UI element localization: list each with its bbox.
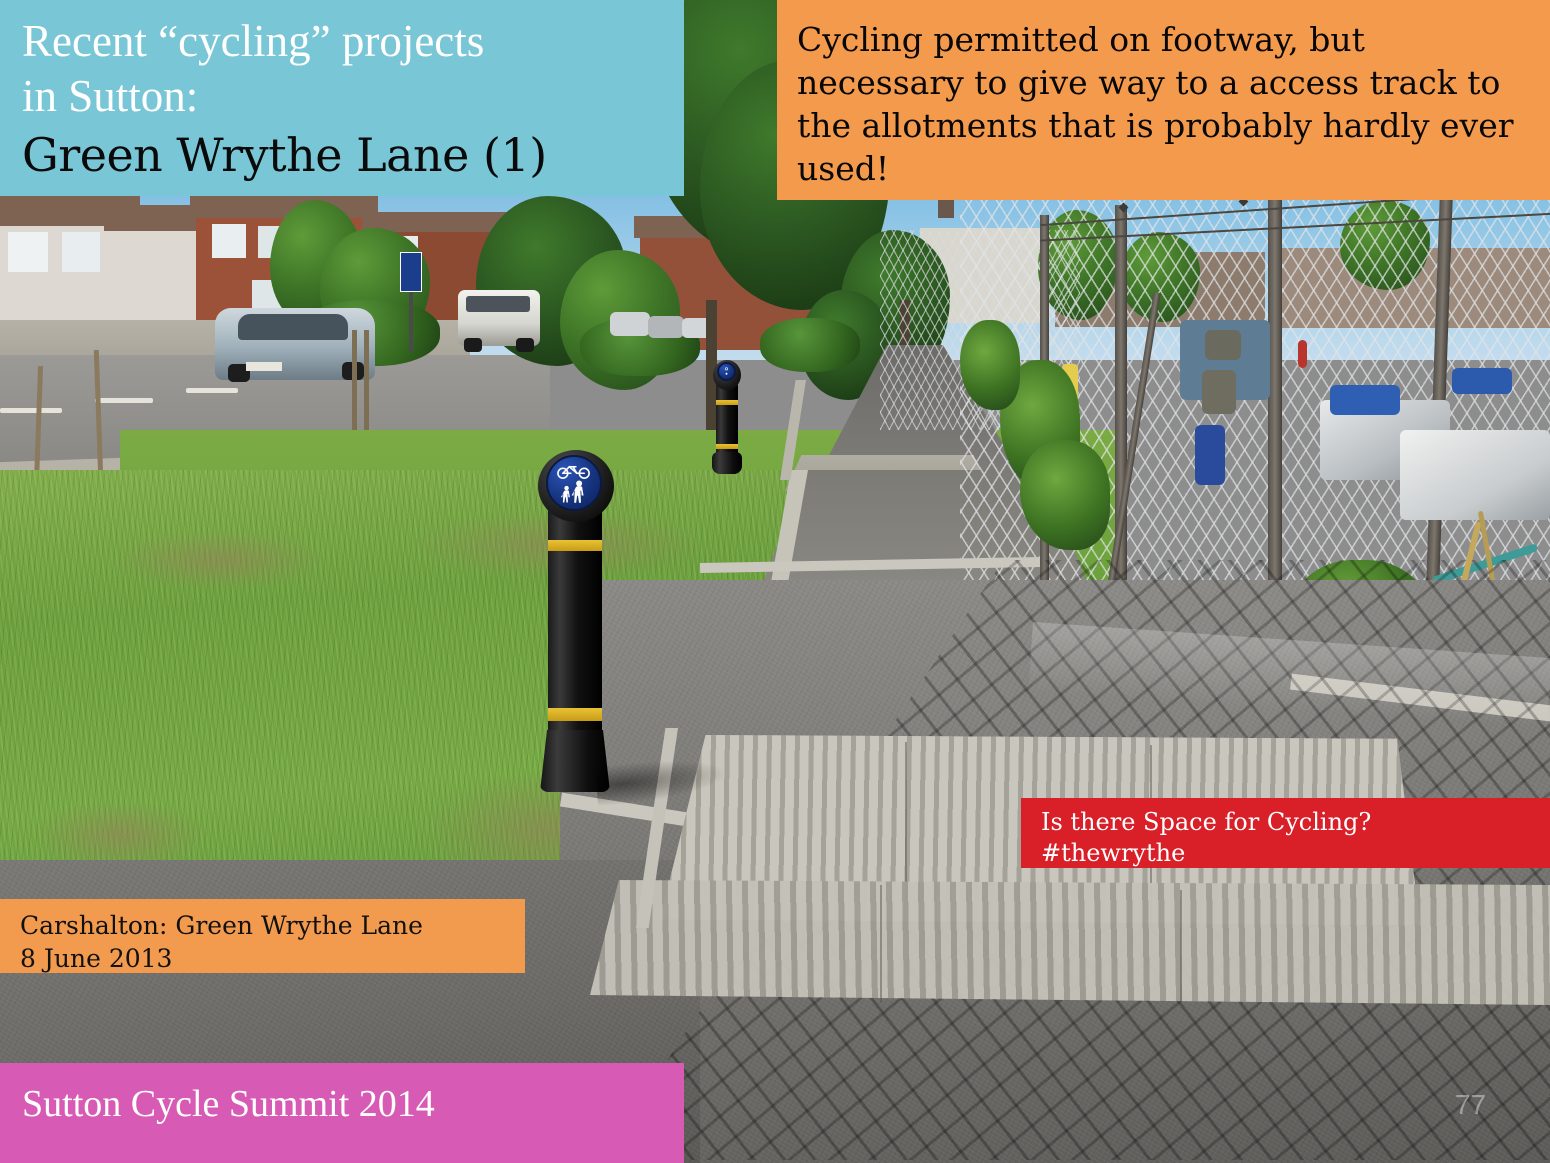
allotment-bag (1400, 430, 1550, 520)
dirt-patch (110, 530, 330, 590)
photo-caption-date: 8 June 2013 (20, 942, 525, 975)
photo-caption-box: Carshalton: Green Wrythe Lane 8 June 201… (0, 899, 525, 973)
bollard-far-yellow-band (716, 400, 738, 405)
4x4-wheel (464, 338, 482, 352)
footer-bar: Sutton Cycle Summit 2014 (0, 1063, 684, 1163)
page-number: 77 (1455, 1089, 1486, 1121)
allotment-marker-red (1298, 340, 1307, 368)
bollard-far-yellow-band (716, 444, 738, 449)
window (8, 232, 48, 272)
slide-title-line-1: Recent “cycling” projects (22, 14, 684, 69)
hedge (760, 318, 860, 372)
campaign-hashtag: #thewrythe (1041, 838, 1550, 869)
bollard-yellow-band-lower (548, 708, 602, 721)
callout-text: Cycling permitted on footway, but necess… (797, 18, 1530, 190)
distant-car (648, 316, 684, 338)
window (212, 224, 246, 258)
distant-car (610, 312, 650, 336)
allotment-bag-blue (1452, 368, 1512, 394)
photo-caption-location: Carshalton: Green Wrythe Lane (20, 909, 525, 942)
campaign-box: Is there Space for Cycling? #thewrythe (1021, 798, 1550, 868)
slide-title-line-2: in Sutton: (22, 69, 684, 124)
shared-use-cycle-pedestrian-icon (548, 457, 600, 509)
slide-title-line-3: Green Wrythe Lane (1) (22, 124, 684, 186)
street-sign (400, 252, 422, 292)
4x4-window (466, 296, 530, 312)
bollard-far-sign (717, 362, 736, 381)
house-white-left2 (110, 225, 202, 325)
car-numberplate (246, 362, 282, 371)
window (62, 232, 100, 272)
paving-joint (1180, 890, 1182, 1008)
bollard-yellow-band-upper (548, 540, 602, 551)
car-windscreen (238, 314, 348, 340)
road-centre-line (0, 408, 62, 413)
house-roof-brick-mid (190, 196, 378, 218)
paving-joint (880, 885, 882, 1003)
road-centre-line (95, 398, 153, 403)
footer-label: Sutton Cycle Summit 2014 (22, 1081, 684, 1127)
allotment-sign (1195, 425, 1225, 485)
road-centre-line (186, 388, 238, 393)
4x4-wheel (516, 338, 534, 352)
allotment-bag-blue (1330, 385, 1400, 415)
street-sign-post (409, 292, 413, 352)
allotment-sign (1202, 370, 1236, 414)
bollard-far-base (712, 452, 742, 474)
shared-use-icon-small (719, 364, 734, 379)
slide-title-box: Recent “cycling” projects in Sutton: Gre… (0, 0, 684, 196)
bollard-sign (546, 455, 602, 511)
campaign-question: Is there Space for Cycling? (1041, 807, 1550, 838)
allotment-sign (1205, 330, 1241, 360)
callout-box: Cycling permitted on footway, but necess… (777, 0, 1550, 200)
slide: Recent “cycling” projects in Sutton: Gre… (0, 0, 1550, 1163)
tactile-paving-lower (590, 880, 1550, 1005)
